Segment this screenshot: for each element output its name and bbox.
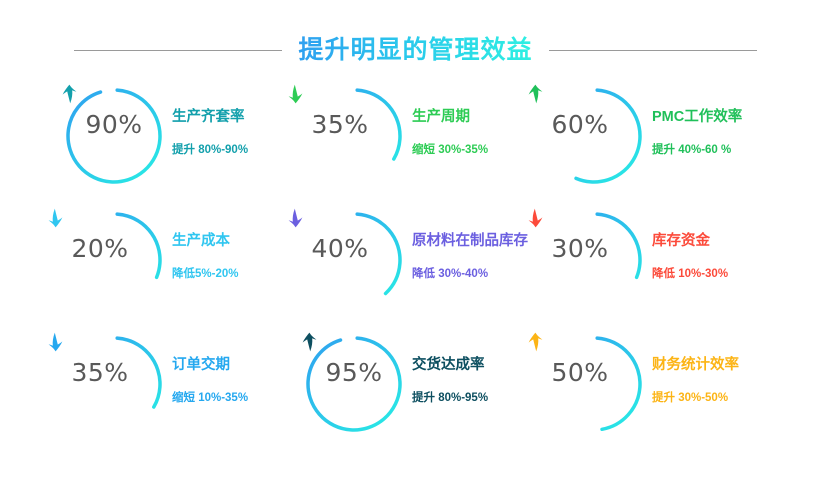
metric-card: 30%库存资金降低 10%-30% <box>542 206 782 330</box>
metric-label: 生产齐套率 <box>172 108 302 126</box>
metric-label: 订单交期 <box>172 356 302 374</box>
progress-ring: 50% <box>542 332 646 436</box>
metric-subtext: 降低 30%-40% <box>412 266 542 282</box>
progress-ring: 30% <box>542 208 646 312</box>
percent-value: 90% <box>85 112 142 138</box>
percent-value: 20% <box>71 236 128 262</box>
metric-card: 40%原材料在制品库存降低 30%-40% <box>302 206 542 330</box>
metric-text: 生产成本降低5%-20% <box>166 206 302 282</box>
metric-subtext: 提升 30%-50% <box>652 390 782 406</box>
ring-center: 95% <box>302 332 406 436</box>
metric-label: PMC工作效率 <box>652 108 782 126</box>
ring-center: 60% <box>528 84 632 188</box>
percent-value: 50% <box>551 360 608 386</box>
metric-label: 库存资金 <box>652 232 782 250</box>
metric-label: 生产周期 <box>412 108 542 126</box>
metric-label: 原材料在制品库存 <box>412 232 542 250</box>
metric-subtext: 提升 80%-95% <box>412 390 542 406</box>
metric-label: 财务统计效率 <box>652 356 782 374</box>
percent-value: 40% <box>311 236 368 262</box>
metric-card: 20%生产成本降低5%-20% <box>62 206 302 330</box>
metric-card: 90%生产齐套率提升 80%-90% <box>62 82 302 206</box>
progress-ring: 35% <box>302 84 406 188</box>
metric-text: 生产周期缩短 30%-35% <box>406 82 542 158</box>
metric-text: PMC工作效率提升 40%-60 % <box>646 82 782 158</box>
metric-text: 订单交期缩短 10%-35% <box>166 330 302 406</box>
metric-card: 35%订单交期缩短 10%-35% <box>62 330 302 454</box>
page-header: 提升明显的管理效益 <box>0 28 831 72</box>
metric-text: 生产齐套率提升 80%-90% <box>166 82 302 158</box>
progress-ring: 35% <box>62 332 166 436</box>
progress-ring: 60% <box>542 84 646 188</box>
metric-card: 50%财务统计效率提升 30%-50% <box>542 330 782 454</box>
metric-label: 交货达成率 <box>412 356 542 374</box>
percent-value: 35% <box>71 360 128 386</box>
ring-center: 40% <box>288 208 392 312</box>
metric-card: 60%PMC工作效率提升 40%-60 % <box>542 82 782 206</box>
progress-ring: 95% <box>302 332 406 436</box>
ring-center: 35% <box>288 84 392 188</box>
ring-center: 20% <box>48 208 152 312</box>
progress-ring: 20% <box>62 208 166 312</box>
metric-text: 交货达成率提升 80%-95% <box>406 330 542 406</box>
percent-value: 35% <box>311 112 368 138</box>
progress-ring: 90% <box>62 84 166 188</box>
metric-label: 生产成本 <box>172 232 302 250</box>
metric-subtext: 降低 10%-30% <box>652 266 782 282</box>
metric-subtext: 降低5%-20% <box>172 266 302 282</box>
metric-card: 35%生产周期缩短 30%-35% <box>302 82 542 206</box>
header-rule-left <box>74 50 282 51</box>
percent-value: 60% <box>551 112 608 138</box>
metric-subtext: 缩短 30%-35% <box>412 142 542 158</box>
infographic-page: 提升明显的管理效益 90%生产齐套率提升 80%-90%35%生产周期缩短 30… <box>0 0 831 479</box>
header-rule-right <box>549 50 757 51</box>
progress-ring: 40% <box>302 208 406 312</box>
metric-card: 95%交货达成率提升 80%-95% <box>302 330 542 454</box>
metric-subtext: 提升 40%-60 % <box>652 142 782 158</box>
metric-subtext: 提升 80%-90% <box>172 142 302 158</box>
metric-text: 库存资金降低 10%-30% <box>646 206 782 282</box>
ring-center: 90% <box>62 84 166 188</box>
page-title: 提升明显的管理效益 <box>298 33 532 67</box>
percent-value: 30% <box>551 236 608 262</box>
metric-subtext: 缩短 10%-35% <box>172 390 302 406</box>
ring-center: 35% <box>48 332 152 436</box>
percent-value: 95% <box>325 360 382 386</box>
metric-text: 原材料在制品库存降低 30%-40% <box>406 206 542 282</box>
metric-text: 财务统计效率提升 30%-50% <box>646 330 782 406</box>
metric-card-grid: 90%生产齐套率提升 80%-90%35%生产周期缩短 30%-35%60%PM… <box>62 82 782 454</box>
ring-center: 30% <box>528 208 632 312</box>
ring-center: 50% <box>528 332 632 436</box>
